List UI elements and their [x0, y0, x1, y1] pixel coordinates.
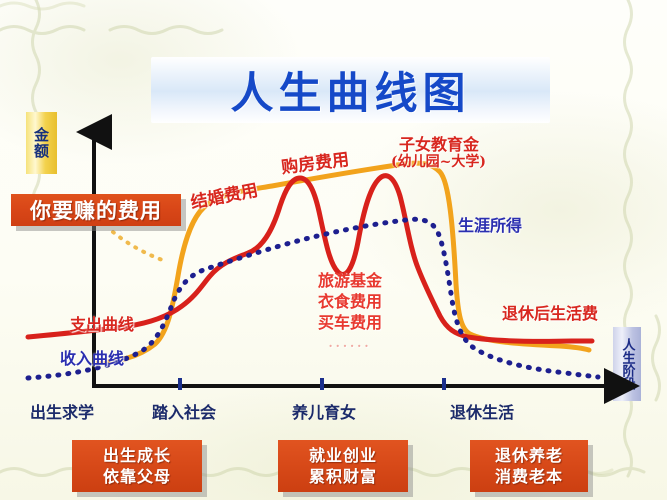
label-house-expense: 购房费用 — [280, 145, 351, 178]
label-career-income: 生涯所得 — [458, 212, 522, 236]
y-axis-badge: 金额 — [26, 112, 57, 174]
stage-box-2: 退休养老 消费老本 — [470, 440, 588, 492]
stage-box-0-line1: 出生成长 — [103, 445, 171, 466]
label-expenditure-curve: 支出曲线 — [70, 311, 134, 335]
label-marriage-expense: 结婚费用 — [188, 176, 260, 214]
earn-callout-box: 你要赚的费用 — [11, 194, 181, 226]
stage-name-2: 养儿育女 — [292, 399, 356, 423]
stage-name-1: 踏入社会 — [152, 399, 216, 423]
y-axis-label: 金额 — [31, 127, 52, 159]
mid-expense-item-2: 买车费用 — [318, 312, 382, 333]
earn-callout-label: 你要赚的费用 — [30, 195, 162, 225]
stage-box-1-line2: 累积财富 — [309, 466, 377, 487]
stage-box-2-line1: 退休养老 — [495, 445, 563, 466]
mid-expense-item-1: 衣食费用 — [318, 291, 382, 312]
mid-expense-item-0: 旅游基金 — [318, 270, 382, 291]
life-curve-diagram: 人生曲线图 金额 人生阶段 — [0, 0, 667, 500]
stage-box-1: 就业创业 累积财富 — [278, 440, 408, 492]
stage-name-3: 退休生活 — [450, 399, 514, 423]
stage-box-1-line1: 就业创业 — [309, 445, 377, 466]
label-income-curve: 收入曲线 — [60, 345, 124, 369]
mid-expense-list: 旅游基金 衣食费用 买车费用 ...... — [318, 270, 382, 354]
x-axis-badge: 人生阶段 — [613, 327, 641, 401]
stage-box-2-line2: 消费老本 — [495, 466, 563, 487]
label-retirement-cost: 退休后生活费 — [502, 300, 598, 324]
x-axis-ticks — [180, 378, 444, 390]
stage-box-0-line2: 依靠父母 — [103, 466, 171, 487]
page-title: 人生曲线图 — [151, 60, 550, 120]
label-education-fund-sub: (幼儿园~大学) — [391, 151, 486, 171]
stage-name-0: 出生求学 — [30, 399, 94, 423]
stage-box-0: 出生成长 依靠父母 — [72, 440, 202, 492]
x-axis-label: 人生阶段 — [618, 338, 637, 390]
callout-leader-line — [113, 232, 168, 262]
mid-expense-item-3: ...... — [318, 333, 382, 354]
